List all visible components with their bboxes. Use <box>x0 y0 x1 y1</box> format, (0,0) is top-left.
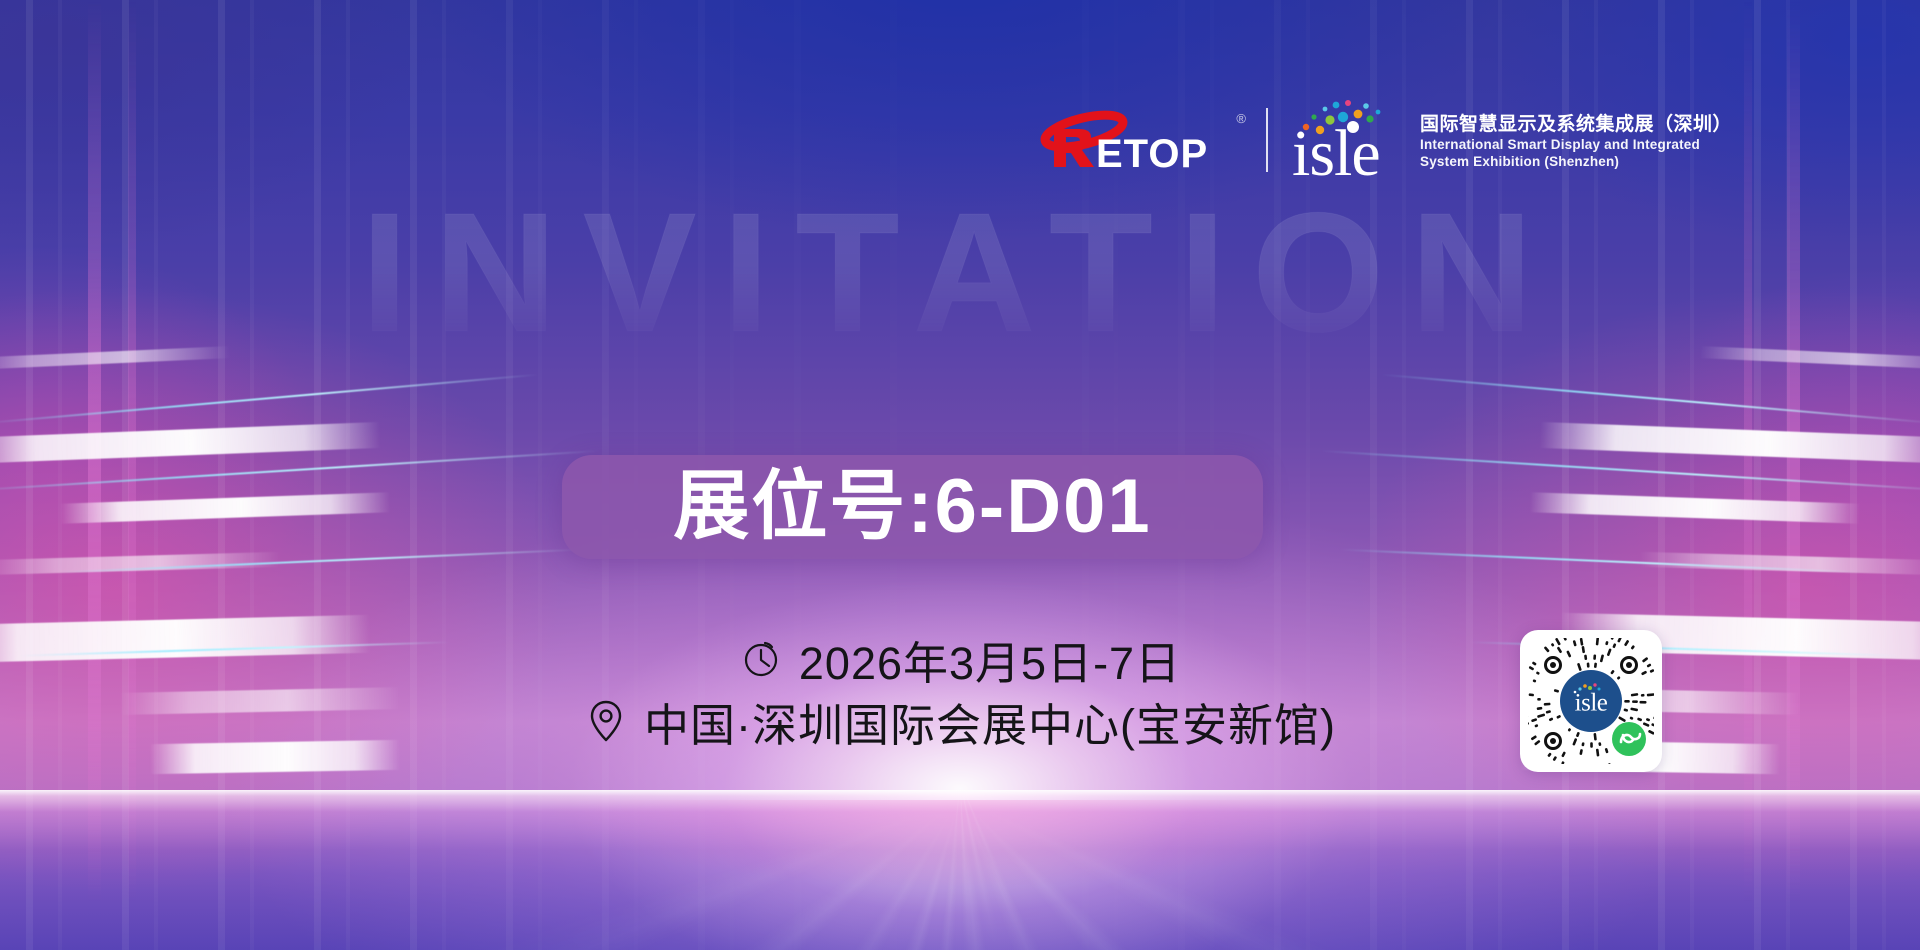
wechat-mini-program-code[interactable]: isle <box>1528 638 1654 764</box>
cyan-ray <box>1381 374 1920 425</box>
isle-title-block: 国际智慧显示及系统集成展（深圳） International Smart Dis… <box>1420 109 1732 171</box>
light-bar <box>0 422 380 464</box>
isle-title-en-line1: International Smart Display and Integrat… <box>1420 137 1732 154</box>
retop-logo: ETOP ® <box>1040 109 1240 171</box>
registered-trademark-icon: ® <box>1236 111 1246 126</box>
floor-perspective-rays <box>0 796 1920 950</box>
isle-title-en-line2: System Exhibition (Shenzhen) <box>1420 154 1732 171</box>
light-bar <box>60 492 390 524</box>
event-venue-text: 中国·深圳国际会展中心(宝安新馆) <box>644 689 1336 754</box>
wechat-qr-card[interactable]: isle <box>1520 630 1662 772</box>
svg-text:ETOP: ETOP <box>1096 132 1208 171</box>
booth-number-badge: 展位号:6-D01 <box>562 455 1263 559</box>
logo-divider <box>1266 108 1268 172</box>
background-floor <box>0 790 1920 950</box>
isle-title-cn: 国际智慧显示及系统集成展（深圳） <box>1420 113 1732 137</box>
isle-wordmark: isle <box>1292 121 1380 187</box>
qr-code-pattern <box>1528 638 1654 764</box>
invitation-banner: INVITATION ETOP ® <box>0 0 1920 950</box>
isle-logo: isle <box>1292 97 1404 183</box>
watermark-invitation: INVITATION <box>0 188 1920 358</box>
event-date-text: 2026年3月5日-7日 <box>799 627 1181 692</box>
floor-pink-glow <box>0 800 1920 920</box>
logo-panel: ETOP ® isle <box>1040 86 1720 194</box>
retop-logo-mark: ETOP <box>1040 109 1240 171</box>
light-bar <box>1540 422 1920 464</box>
light-bar <box>1530 492 1860 524</box>
clock-icon <box>739 637 783 681</box>
location-pin-icon <box>584 697 628 745</box>
cyan-ray <box>0 374 539 425</box>
booth-number-label: 展位号:6-D01 <box>673 469 1151 545</box>
